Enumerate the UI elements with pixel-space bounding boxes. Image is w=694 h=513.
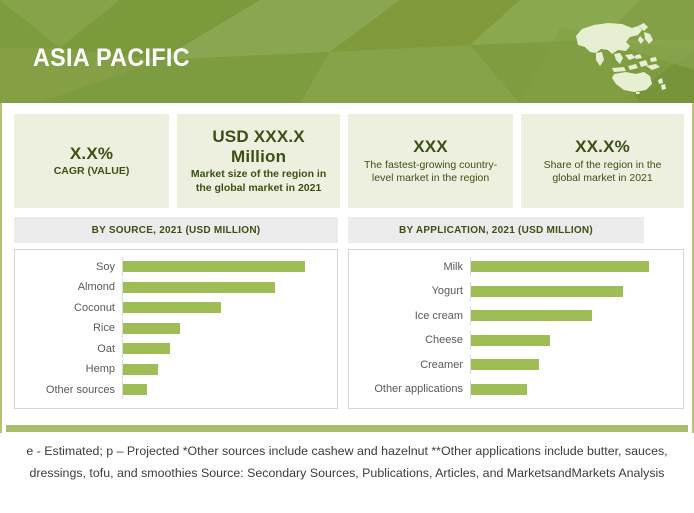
kpi-cagr: X.X% CAGR (VALUE) [14, 114, 169, 208]
asia-pacific-map-icon [568, 14, 672, 94]
bar-label: Cheese [349, 334, 470, 346]
bar [123, 364, 158, 375]
bar-row: Oat [15, 339, 329, 358]
bottom-rule [6, 425, 688, 432]
bar [471, 335, 550, 346]
panel-by-application-title: BY APPLICATION, 2021 (USD MILLION) [348, 217, 644, 243]
kpi-market-size: USD XXX.X Million Market size of the reg… [177, 114, 340, 208]
panel-by-source-body: SoyAlmondCoconutRiceOatHempOther sources [14, 249, 338, 409]
bar-row: Soy [15, 257, 329, 276]
bar-label: Hemp [15, 363, 122, 375]
bar-row: Creamer [349, 355, 675, 374]
bar-track [470, 257, 675, 276]
bar-track [122, 319, 329, 338]
bar-row: Yogurt [349, 282, 675, 301]
footnote: e - Estimated; p – Projected *Other sour… [0, 441, 694, 484]
bar-row: Cheese [349, 331, 675, 350]
kpi-fastest-growing-value: XXX [413, 137, 448, 157]
bar-label: Milk [349, 261, 470, 273]
bar [123, 323, 180, 334]
bar-row: Coconut [15, 298, 329, 317]
bar-label: Ice cream [349, 310, 470, 322]
body-area: X.X% CAGR (VALUE) USD XXX.X Million Mark… [0, 103, 694, 433]
bar-label: Other sources [15, 384, 122, 396]
panel-by-application: BY APPLICATION, 2021 (USD MILLION) MilkY… [348, 217, 684, 419]
bar-track [122, 380, 329, 399]
bar-label: Rice [15, 322, 122, 334]
bar-track [470, 355, 675, 374]
bar [471, 310, 592, 321]
bar-label: Oat [15, 343, 122, 355]
kpi-share-value: XX.X% [575, 137, 630, 157]
bar [471, 359, 539, 370]
bar-row: Ice cream [349, 306, 675, 325]
kpi-cagr-value: X.X% [70, 144, 113, 164]
charts-row: BY SOURCE, 2021 (USD MILLION) SoyAlmondC… [14, 217, 684, 419]
bar-label: Creamer [349, 359, 470, 371]
bar-track [122, 298, 329, 317]
bar-track [470, 331, 675, 350]
kpi-share-label: Share of the region in the global market… [529, 159, 676, 185]
bar-track [470, 380, 675, 399]
panel-by-application-body: MilkYogurtIce creamCheeseCreamerOther ap… [348, 249, 684, 409]
bar-track [122, 278, 329, 297]
kpi-market-size-label: Market size of the region in the global … [185, 168, 332, 194]
bar-chart-by-application: MilkYogurtIce creamCheeseCreamerOther ap… [349, 250, 683, 408]
bar-label: Soy [15, 261, 122, 273]
bar [471, 286, 623, 297]
bar [123, 261, 305, 272]
kpi-cagr-label: CAGR (VALUE) [54, 165, 130, 178]
bar-label: Other applications [349, 383, 470, 395]
bar [123, 302, 221, 313]
panel-by-source: BY SOURCE, 2021 (USD MILLION) SoyAlmondC… [14, 217, 338, 419]
bar-row: Milk [349, 257, 675, 276]
asia-pacific-infographic: ASIA PACIFIC X.X% CAGR (VALUE) USD XXX.X… [0, 0, 694, 513]
bar-row: Almond [15, 278, 329, 297]
bar-chart-by-source: SoyAlmondCoconutRiceOatHempOther sources [15, 250, 337, 408]
kpi-fastest-growing: XXX The fastest-growing country-level ma… [348, 114, 513, 208]
page-title: ASIA PACIFIC [33, 44, 190, 73]
bar-track [122, 339, 329, 358]
bar-label: Coconut [15, 302, 122, 314]
bar-row: Other sources [15, 380, 329, 399]
bar [123, 384, 147, 395]
bar-track [470, 282, 675, 301]
bar [123, 282, 275, 293]
bar-track [122, 360, 329, 379]
bar-track [122, 257, 329, 276]
kpi-market-size-value: USD XXX.X Million [185, 127, 332, 166]
bar-label: Yogurt [349, 285, 470, 297]
bar [471, 384, 527, 395]
bar-track [470, 306, 675, 325]
kpi-row: X.X% CAGR (VALUE) USD XXX.X Million Mark… [14, 114, 684, 208]
kpi-fastest-growing-label: The fastest-growing country-level market… [356, 159, 505, 185]
bar-row: Other applications [349, 380, 675, 399]
kpi-share: XX.X% Share of the region in the global … [521, 114, 684, 208]
bar-row: Rice [15, 319, 329, 338]
bar [471, 261, 649, 272]
bar-row: Hemp [15, 360, 329, 379]
bar [123, 343, 170, 354]
bar-label: Almond [15, 281, 122, 293]
panel-by-source-title: BY SOURCE, 2021 (USD MILLION) [14, 217, 338, 243]
header-banner: ASIA PACIFIC [0, 0, 694, 103]
